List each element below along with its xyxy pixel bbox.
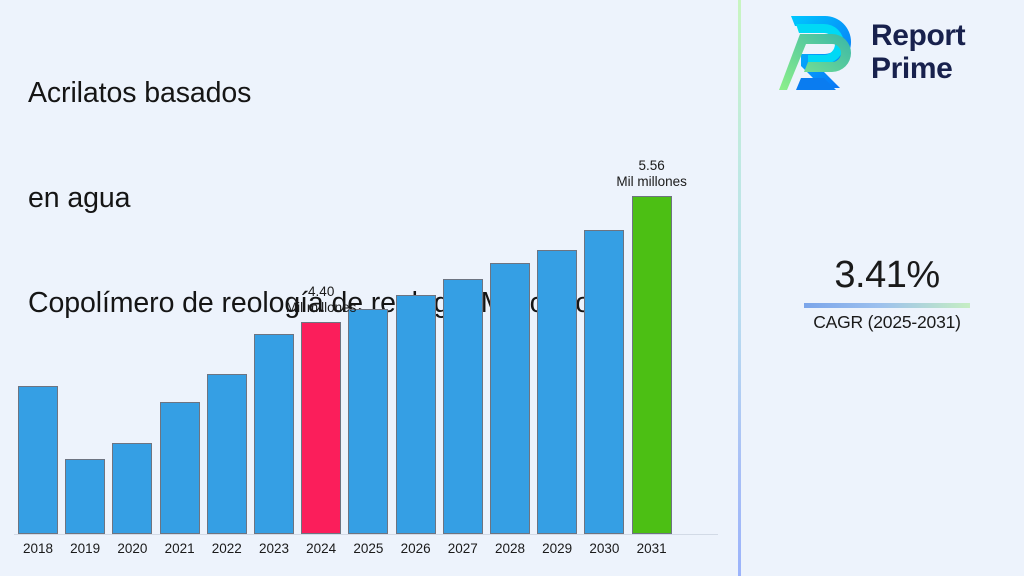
- x-axis-line: [14, 534, 718, 535]
- bar-label-unit-2031: Mil millones: [577, 174, 727, 190]
- bar-2027: [443, 279, 483, 534]
- bar-2024: [301, 322, 341, 534]
- panel-divider: [738, 0, 741, 576]
- cagr-panel: 3.41% CAGR (2025-2031): [762, 252, 1012, 333]
- bar-label-value-2024: 4.40: [246, 284, 396, 300]
- bar-label-unit-2024: Mil millones: [246, 300, 396, 316]
- x-tick-2031: 2031: [622, 540, 682, 558]
- bar-2022: [207, 374, 247, 534]
- logo-word-report: Report: [871, 19, 965, 52]
- bar-label-value-2031: 5.56: [577, 158, 727, 174]
- bar-2021: [160, 402, 200, 534]
- cagr-value: 3.41%: [762, 252, 1012, 298]
- logo-wordmark: Report Prime: [871, 19, 965, 85]
- bar-2031: [632, 196, 672, 534]
- report-prime-r-mark-icon: [775, 10, 859, 94]
- cagr-label: CAGR (2025-2031): [762, 311, 1012, 333]
- report-prime-logo: Report Prime: [775, 10, 1010, 94]
- bar-2025: [348, 309, 388, 534]
- bar-label-2024: 4.40Mil millones: [246, 284, 396, 316]
- bar-2030: [584, 230, 624, 534]
- bar-label-2031: 5.56Mil millones: [577, 158, 727, 190]
- bar-2023: [254, 334, 294, 534]
- bar-2028: [490, 263, 530, 534]
- bar-2018: [18, 386, 58, 534]
- bar-2029: [537, 250, 577, 534]
- chart-infographic: Acrilatos basados en agua Copolímero de …: [0, 0, 1024, 576]
- cagr-divider-rule: [804, 303, 970, 308]
- bar-chart: 2018201920202021202220232024202520262027…: [0, 0, 738, 576]
- bar-2020: [112, 443, 152, 534]
- bar-2026: [396, 295, 436, 534]
- logo-word-prime: Prime: [871, 52, 965, 85]
- bar-2019: [65, 459, 105, 534]
